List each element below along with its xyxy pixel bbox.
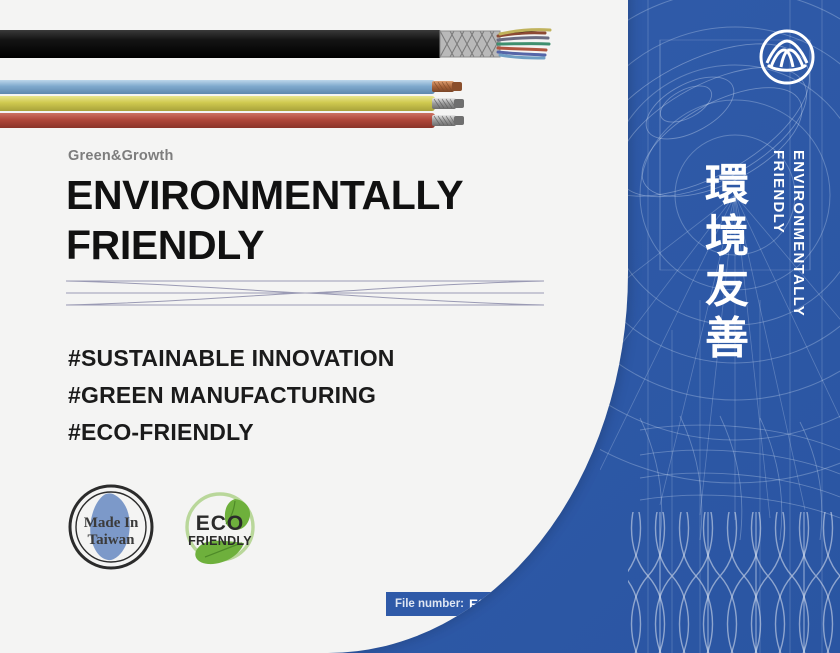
content-card: Green&Growth ENVIRONMENTALLY FRIENDLY <box>0 0 628 653</box>
made-in-taiwan-badge: Made In Taiwan <box>66 482 156 572</box>
hashtag-item-1: #SUSTAINABLE INNOVATION <box>68 340 395 377</box>
certification-badges: Made In Taiwan ECO FRIENDLY <box>66 482 262 572</box>
eyebrow-label: Green&Growth <box>68 148 174 164</box>
chinese-char-1: 環 <box>700 160 754 211</box>
badge-line-1: Made In <box>84 515 139 531</box>
chinese-vertical-title: 環 境 友 善 <box>700 160 754 364</box>
english-vertical-title: ENVIRONMENTALLY FRIENDLY <box>768 150 808 317</box>
poster-canvas: 環 境 友 善 ENVIRONMENTALLY FRIENDLY <box>0 0 840 653</box>
crossing-lines-icon <box>66 276 544 312</box>
cable-illustration-icon <box>0 0 628 132</box>
cable-product-image <box>0 0 628 132</box>
hashtag-item-2: #GREEN MANUFACTURING <box>68 377 395 414</box>
chinese-char-3: 友 <box>700 262 754 313</box>
wire-divider <box>66 276 544 312</box>
file-number-badge[interactable]: File number: E209277 <box>386 592 578 616</box>
company-emblem-icon <box>757 27 817 87</box>
search-icon[interactable] <box>552 597 569 612</box>
file-number-value: E209277 <box>469 597 523 612</box>
badge-eco-line-1: ECO <box>196 512 245 535</box>
chinese-char-4: 善 <box>700 313 754 364</box>
chinese-char-2: 境 <box>700 211 754 262</box>
page-title: ENVIRONMENTALLY FRIENDLY <box>66 170 463 270</box>
hashtag-list: #SUSTAINABLE INNOVATION #GREEN MANUFACTU… <box>68 340 395 451</box>
eco-friendly-badge: ECO FRIENDLY <box>178 485 262 569</box>
hashtag-item-3: #ECO-FRIENDLY <box>68 414 395 451</box>
company-logo <box>757 27 817 92</box>
badge-line-2: Taiwan <box>88 532 136 548</box>
badge-eco-line-2: FRIENDLY <box>188 534 252 548</box>
file-number-label: File number: <box>395 598 464 610</box>
